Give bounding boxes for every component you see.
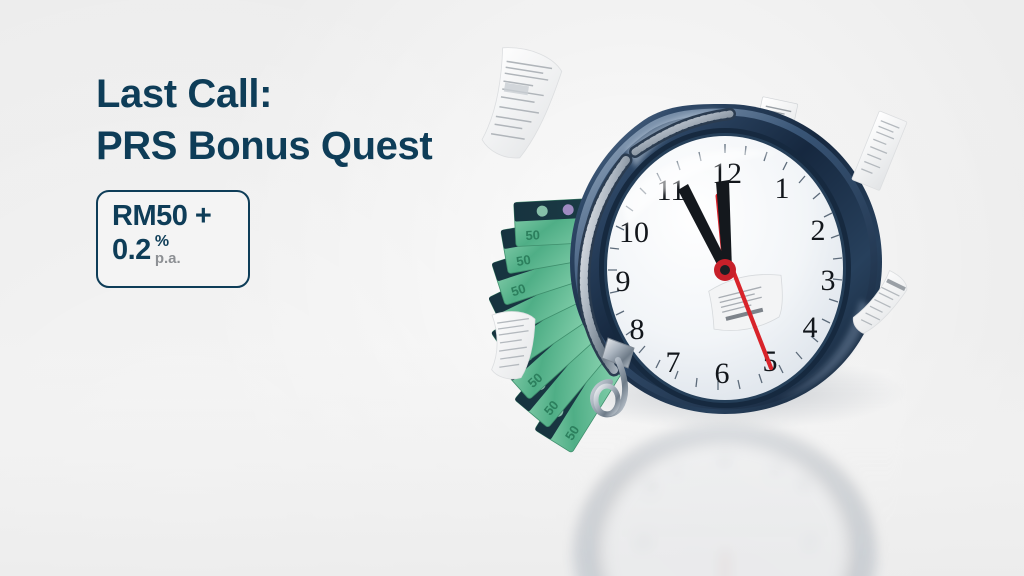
svg-text:50: 50: [525, 227, 540, 243]
receipt-top-left: [480, 45, 564, 164]
numeral-2: 2: [811, 214, 826, 247]
svg-text:50: 50: [515, 252, 532, 269]
per-annum-label: p.a.: [155, 251, 181, 267]
rate-badge: RM50 + 0.2 % p.a.: [96, 190, 250, 288]
numeral-8: 8: [630, 313, 645, 346]
numeral-10: 10: [619, 216, 649, 249]
rate-suffix: % p.a.: [155, 234, 181, 267]
rate-amount: RM50 +: [112, 201, 248, 231]
rate-value: 0.2: [112, 235, 151, 265]
numeral-9: 9: [616, 265, 631, 298]
artwork-stage: 12 3 6 9 1 11 4 5 8 7: [430, 0, 1024, 576]
numeral-3: 3: [821, 264, 836, 297]
rate-line: 0.2 % p.a.: [112, 235, 248, 267]
wallet-clock-illustration: 12 3 6 9 1 11 4 5 8 7: [430, 0, 1024, 576]
promo-banner: Last Call: PRS Bonus Quest RM50 + 0.2 % …: [0, 0, 1024, 576]
wallet-clock: 12 1 2 3 4 5 6 7 8 9 10 11: [570, 104, 882, 414]
numeral-1: 1: [775, 172, 790, 205]
numeral-6: 6: [715, 357, 730, 390]
numeral-4: 4: [803, 311, 818, 344]
percent-symbol: %: [155, 234, 181, 250]
numeral-7: 7: [666, 346, 681, 379]
receipt-top-right: [852, 111, 908, 191]
